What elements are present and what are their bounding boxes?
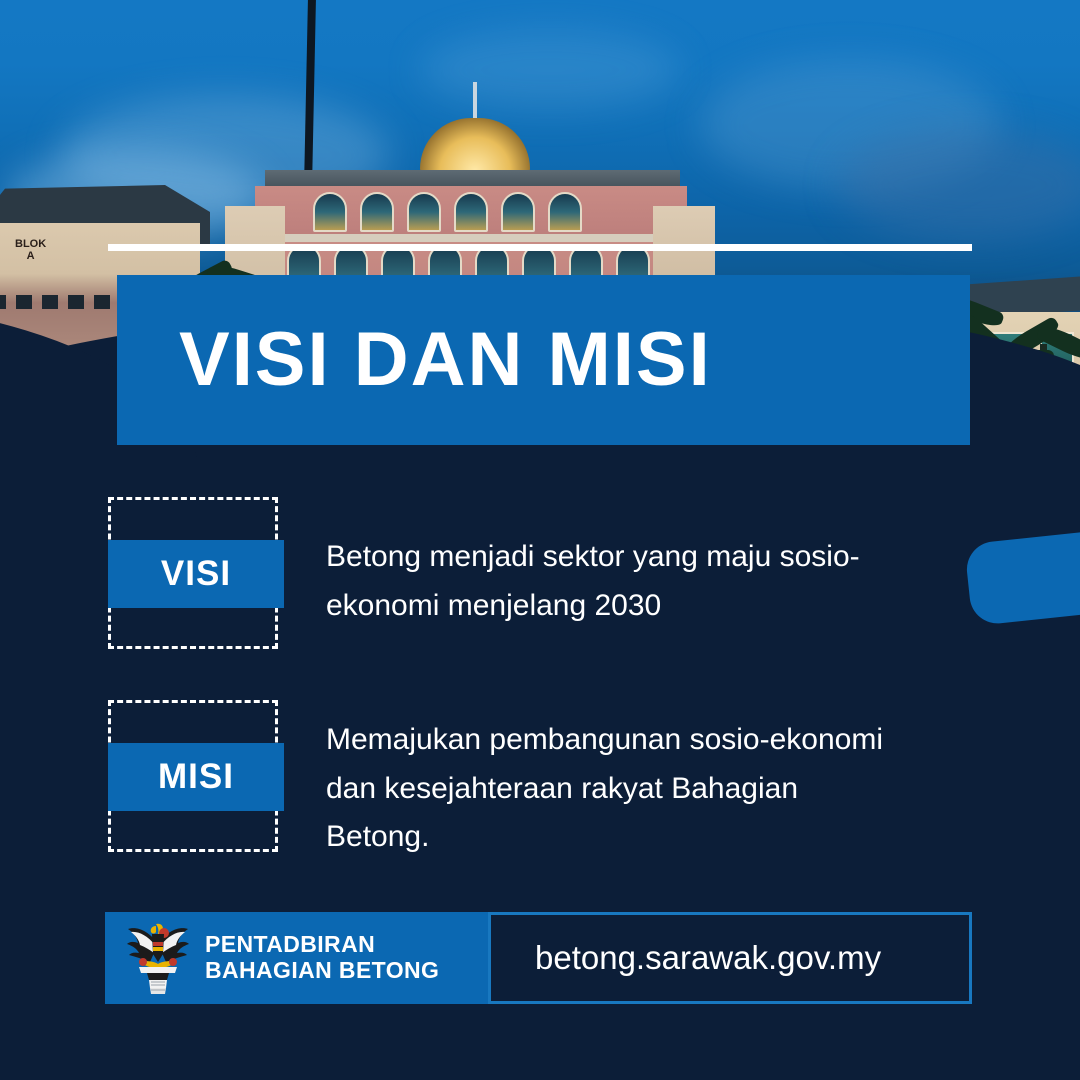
- window: [0, 295, 6, 309]
- footer-brand-line1: PENTADBIRAN: [205, 932, 439, 958]
- complex-cornice-band: [235, 234, 705, 242]
- arch-window: [501, 192, 535, 232]
- blok-a-label-line1: BLOK: [15, 239, 46, 251]
- section-misi: MISI Memajukan pembangunan sosio-ekonomi…: [108, 700, 886, 862]
- arch-window: [313, 192, 347, 232]
- visi-body-text: Betong menjadi sektor yang maju sosio-ek…: [326, 497, 886, 630]
- title-rule: [108, 244, 972, 251]
- visi-badge-band: VISI: [108, 540, 284, 608]
- window: [42, 295, 58, 309]
- complex-upper-arches: [313, 192, 582, 232]
- window: [68, 295, 84, 309]
- page-title: VISI DAN MISI: [117, 322, 712, 398]
- misi-badge-label: MISI: [158, 757, 234, 797]
- visi-badge: VISI: [108, 497, 278, 649]
- blok-a-label: BLOK A: [15, 239, 46, 262]
- sarawak-coat-of-arms-icon: [125, 920, 191, 996]
- cloud-decor: [420, 30, 680, 110]
- poster-root: BLOK A: [0, 0, 1080, 1080]
- blok-a-windows: [0, 295, 110, 309]
- misi-badge-band: MISI: [108, 743, 284, 811]
- arch-window: [454, 192, 488, 232]
- window: [94, 295, 110, 309]
- misi-body-text: Memajukan pembangunan sosio-ekonomi dan …: [326, 700, 886, 862]
- arch-window: [360, 192, 394, 232]
- blok-a-label-line2: A: [15, 251, 46, 263]
- window: [16, 295, 32, 309]
- visi-badge-label: VISI: [161, 554, 231, 594]
- dome-spire: [473, 82, 477, 122]
- footer-url-box[interactable]: betong.sarawak.gov.my: [488, 912, 972, 1004]
- arch-window: [548, 192, 582, 232]
- title-banner: VISI DAN MISI: [117, 275, 970, 445]
- footer-brand-line2: BAHAGIAN BETONG: [205, 958, 439, 984]
- arch-window: [407, 192, 441, 232]
- section-visi: VISI Betong menjadi sektor yang maju sos…: [108, 497, 886, 649]
- footer-brand: PENTADBIRAN BAHAGIAN BETONG: [105, 912, 488, 1004]
- footer-brand-text: PENTADBIRAN BAHAGIAN BETONG: [205, 932, 439, 984]
- footer-bar: PENTADBIRAN BAHAGIAN BETONG betong.saraw…: [105, 912, 972, 1004]
- website-url[interactable]: betong.sarawak.gov.my: [535, 939, 881, 977]
- misi-badge: MISI: [108, 700, 278, 852]
